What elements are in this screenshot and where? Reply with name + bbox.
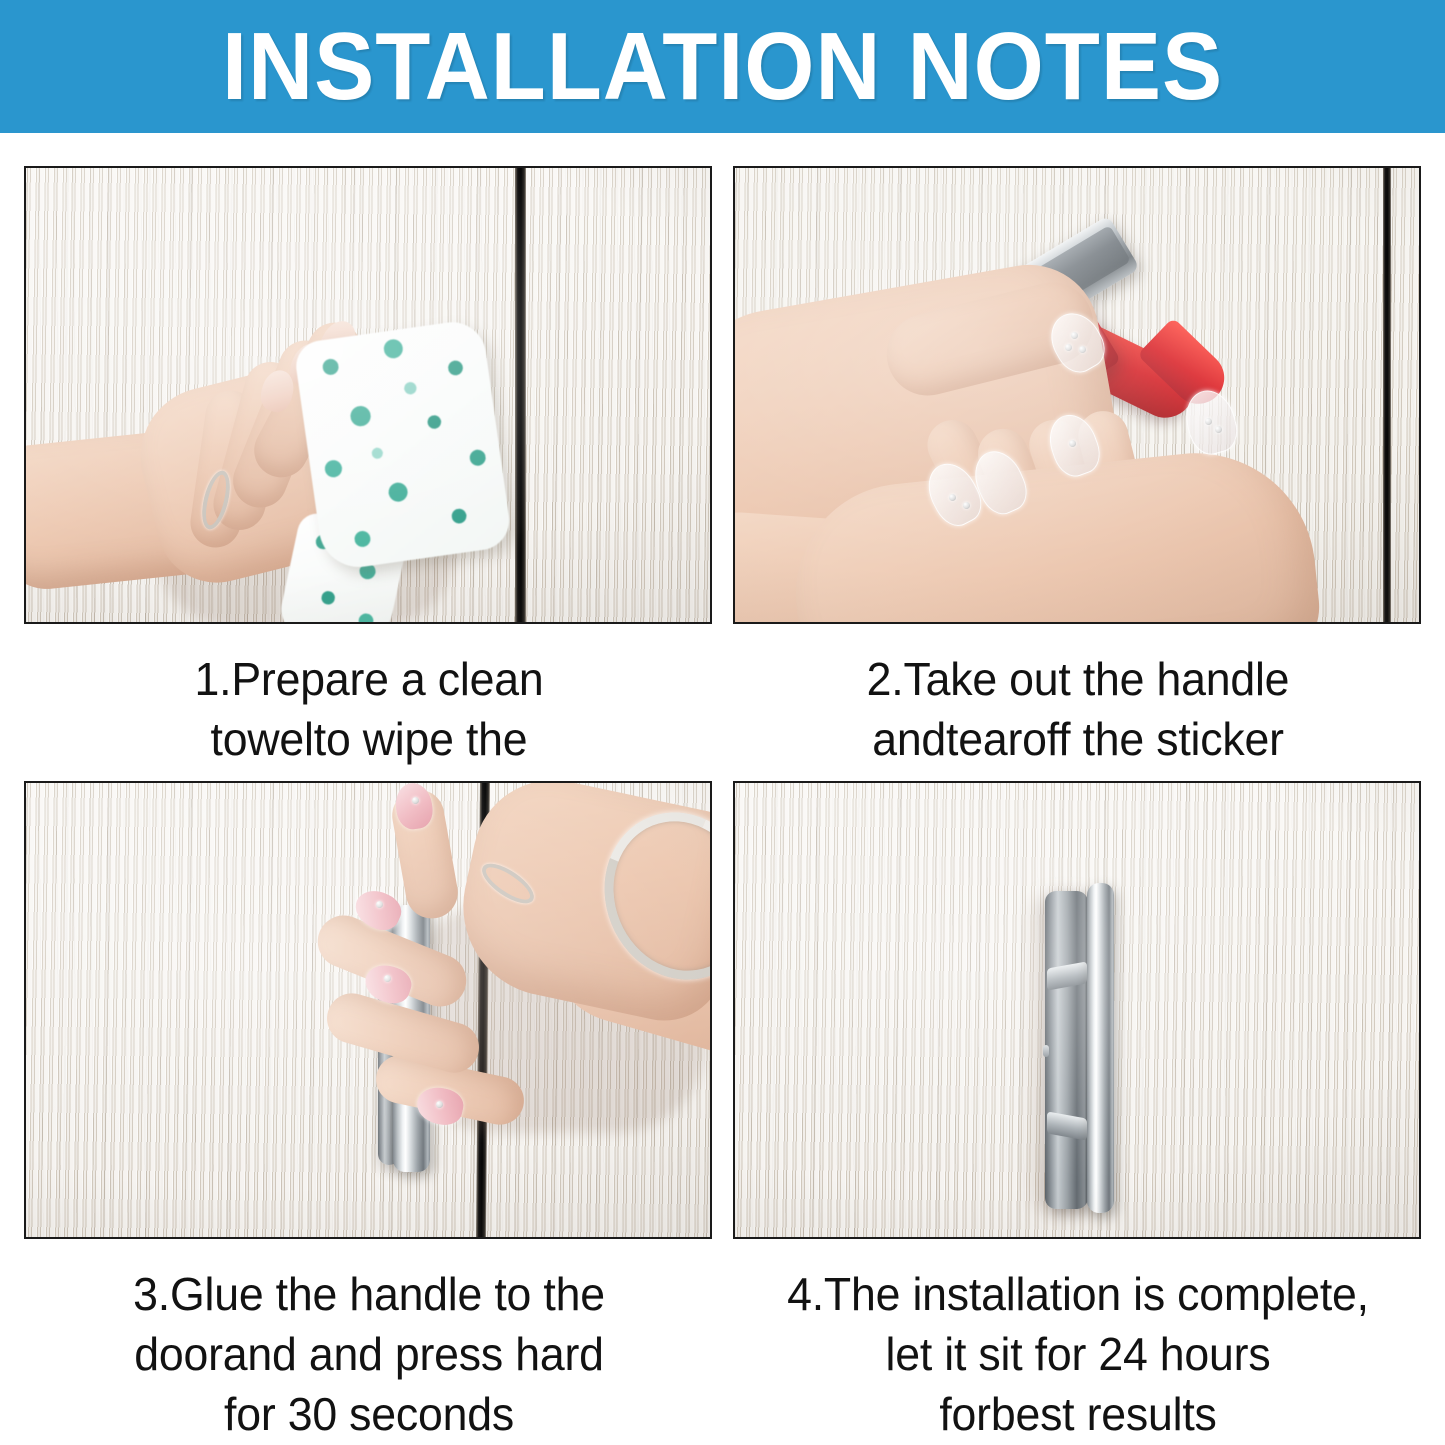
caption-line: let it sit for 24 hours [743,1325,1412,1385]
step-card-1: 1.Prepare a clean towelto wipe the [24,166,714,770]
step-caption-4: 4.The installation is complete, let it s… [743,1265,1412,1444]
nail-gem [1215,426,1222,433]
door-seam [515,166,526,624]
caption-line: towelto wipe the [34,710,703,770]
nail-gem [1205,418,1212,425]
caption-line: doorand and press hard [34,1325,703,1385]
steps-grid: 1.Prepare a clean towelto wipe the [0,133,1445,1445]
caption-line: 2.Take out the handle [743,650,1412,710]
nail-gem [1071,332,1078,339]
step-photo-3 [24,781,712,1239]
step-photo-4 [733,781,1421,1239]
step-caption-1: 1.Prepare a clean towelto wipe the [34,650,703,770]
handle-bar [1087,883,1114,1213]
step-photo-1 [24,166,712,624]
caption-line: for 30 seconds [34,1385,703,1445]
nail-gem [384,975,391,982]
caption-line: 3.Glue the handle to the [34,1265,703,1325]
nail-gem [376,901,383,908]
nail-gem [949,494,956,501]
caption-line: forbest results [743,1385,1412,1445]
header-banner: INSTALLATION NOTES [0,0,1445,133]
step-card-3: 3.Glue the handle to the doorand and pre… [24,781,714,1444]
step-caption-2: 2.Take out the handle andtearoff the sti… [743,650,1412,770]
caption-line: 4.The installation is complete, [743,1265,1412,1325]
caption-line: andtearoff the sticker [743,710,1412,770]
nail-gem [1079,346,1086,353]
nail-gem [412,797,419,804]
step-card-2: 2.Take out the handle andtearoff the sti… [733,166,1423,770]
nail-gem [1065,344,1072,351]
nail-gem [436,1101,443,1108]
plate-screw [1043,1045,1049,1057]
step-photo-2 [733,166,1421,624]
step-card-4: 4.The installation is complete, let it s… [733,781,1423,1444]
step-caption-3: 3.Glue the handle to the doorand and pre… [34,1265,703,1444]
nail-gem [1069,440,1076,447]
cleaning-cloth [293,318,513,572]
nail-gem [963,502,970,509]
caption-line: 1.Prepare a clean [34,650,703,710]
handle-base-plate [1045,891,1088,1209]
door-seam [1383,166,1391,624]
page-title: INSTALLATION NOTES [222,19,1223,115]
